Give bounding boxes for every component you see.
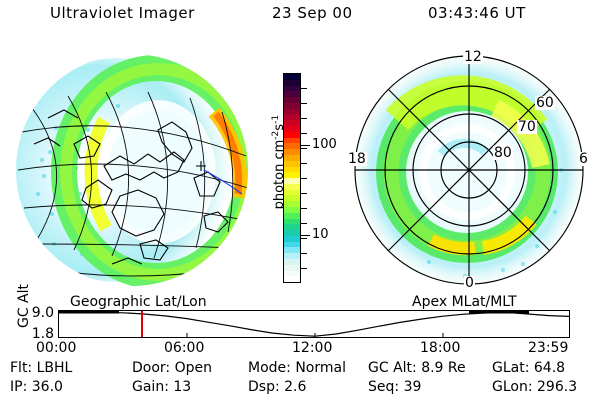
status-door-value: Open (175, 360, 212, 376)
latitude-label-80: 80 (493, 146, 513, 160)
apex-polar-panel[interactable]: 12 18 6 0 60 70 80 (345, 48, 595, 293)
status-gc-alt: GC Alt: 8.9 Re (368, 360, 466, 376)
colorbar-band (284, 276, 300, 282)
latitude-label-60: 60 (535, 96, 555, 110)
colorbar-minor-tick (301, 193, 307, 194)
geographic-image-panel[interactable] (8, 48, 258, 293)
strip-xtick-1200: 12:00 (292, 340, 332, 356)
strip-xtick-2359: 23:59 (528, 340, 568, 356)
mlt-label-12: 12 (463, 50, 483, 64)
strip-plot-frame (58, 310, 570, 338)
colorbar-minor-tick (301, 133, 307, 134)
status-seq-key: Seq: (368, 379, 399, 395)
mlt-label-6: 6 (578, 152, 589, 166)
status-panel: Flt: LBHL Door: Open Mode: Normal GC Alt… (0, 360, 600, 400)
colorbar-minor-tick (301, 88, 307, 89)
colorbar-tick-100 (301, 145, 310, 146)
colorbar-minor-tick (301, 103, 307, 104)
status-gc-alt-value: 8.9 Re (421, 360, 465, 376)
colorbar-exponent-1: -2 (271, 131, 281, 140)
mlt-label-0: 0 (464, 276, 475, 290)
strip-xtick-0000: 00:00 (36, 340, 76, 356)
status-door-key: Door: (132, 360, 170, 376)
colorbar-ticklabel-10: 10 (312, 227, 329, 242)
colorbar-tick-10 (301, 235, 310, 236)
status-mode: Mode: Normal (248, 360, 346, 376)
status-ip-value: 36.0 (32, 379, 63, 395)
strip-xtick-0600: 06:00 (164, 340, 204, 356)
colorbar-minor-tick (301, 223, 307, 224)
status-gc-alt-key: GC Alt: (368, 360, 417, 376)
colorbar-minor-tick (301, 253, 307, 254)
colorbar-gradient (283, 73, 301, 283)
colorbar-bands (284, 74, 300, 282)
status-glon: GLon: 296.3 (492, 379, 577, 395)
status-seq: Seq: 39 (368, 379, 421, 395)
current-time-marker (141, 311, 143, 337)
status-door: Door: Open (132, 360, 212, 376)
status-dsp-value: 2.6 (284, 379, 306, 395)
status-gain-key: Gain: (132, 379, 169, 395)
colorbar-minor-tick (301, 178, 307, 179)
latitude-label-70: 70 (517, 120, 537, 134)
status-filter-key: Flt: (10, 360, 32, 376)
status-dsp: Dsp: 2.6 (248, 379, 306, 395)
status-filter-value: LBHL (37, 360, 73, 376)
strip-title-right: Apex MLat/MLT (412, 294, 517, 310)
orbit-altitude-strip-chart[interactable]: GC Alt 9.0 1.8 Geographic Lat/Lon Apex M… (0, 296, 600, 354)
geographic-graticule (8, 48, 258, 293)
strip-title-left: Geographic Lat/Lon (70, 294, 207, 310)
status-dsp-key: Dsp: (248, 379, 280, 395)
colorbar-panel: photon cm-2s-1 100 10 (262, 62, 340, 294)
status-ip: IP: 36.0 (10, 379, 63, 395)
status-seq-value: 39 (404, 379, 422, 395)
status-glon-key: GLon: (492, 379, 533, 395)
colorbar-minor-tick (301, 163, 307, 164)
mlt-label-18: 18 (347, 152, 367, 166)
colorbar-minor-tick (301, 118, 307, 119)
altitude-curve (59, 311, 569, 337)
strip-ytick-max: 9.0 (8, 305, 54, 321)
colorbar-minor-tick (301, 268, 307, 269)
status-mode-value: Normal (295, 360, 346, 376)
status-ip-key: IP: (10, 379, 27, 395)
status-glat-key: GLat: (492, 360, 529, 376)
strip-xtick-1800: 18:00 (420, 340, 460, 356)
colorbar-exponent-2: -1 (271, 115, 281, 124)
observation-time: 03:43:46 UT (428, 4, 526, 22)
status-gain: Gain: 13 (132, 379, 191, 395)
observation-date: 23 Sep 00 (272, 4, 352, 22)
colorbar-minor-tick (301, 148, 307, 149)
status-gain-value: 13 (173, 379, 191, 395)
colorbar-minor-tick (301, 238, 307, 239)
status-glat-value: 64.8 (534, 360, 565, 376)
status-glat: GLat: 64.8 (492, 360, 565, 376)
status-filter: Flt: LBHL (10, 360, 72, 376)
status-glon-value: 296.3 (537, 379, 577, 395)
polar-grid (345, 48, 595, 293)
page-title: Ultraviolet Imager (50, 4, 195, 22)
header-bar: Ultraviolet Imager 23 Sep 00 03:43:46 UT (0, 4, 600, 30)
colorbar-ticklabel-100: 100 (312, 137, 337, 152)
status-mode-key: Mode: (248, 360, 291, 376)
colorbar-minor-tick (301, 208, 307, 209)
